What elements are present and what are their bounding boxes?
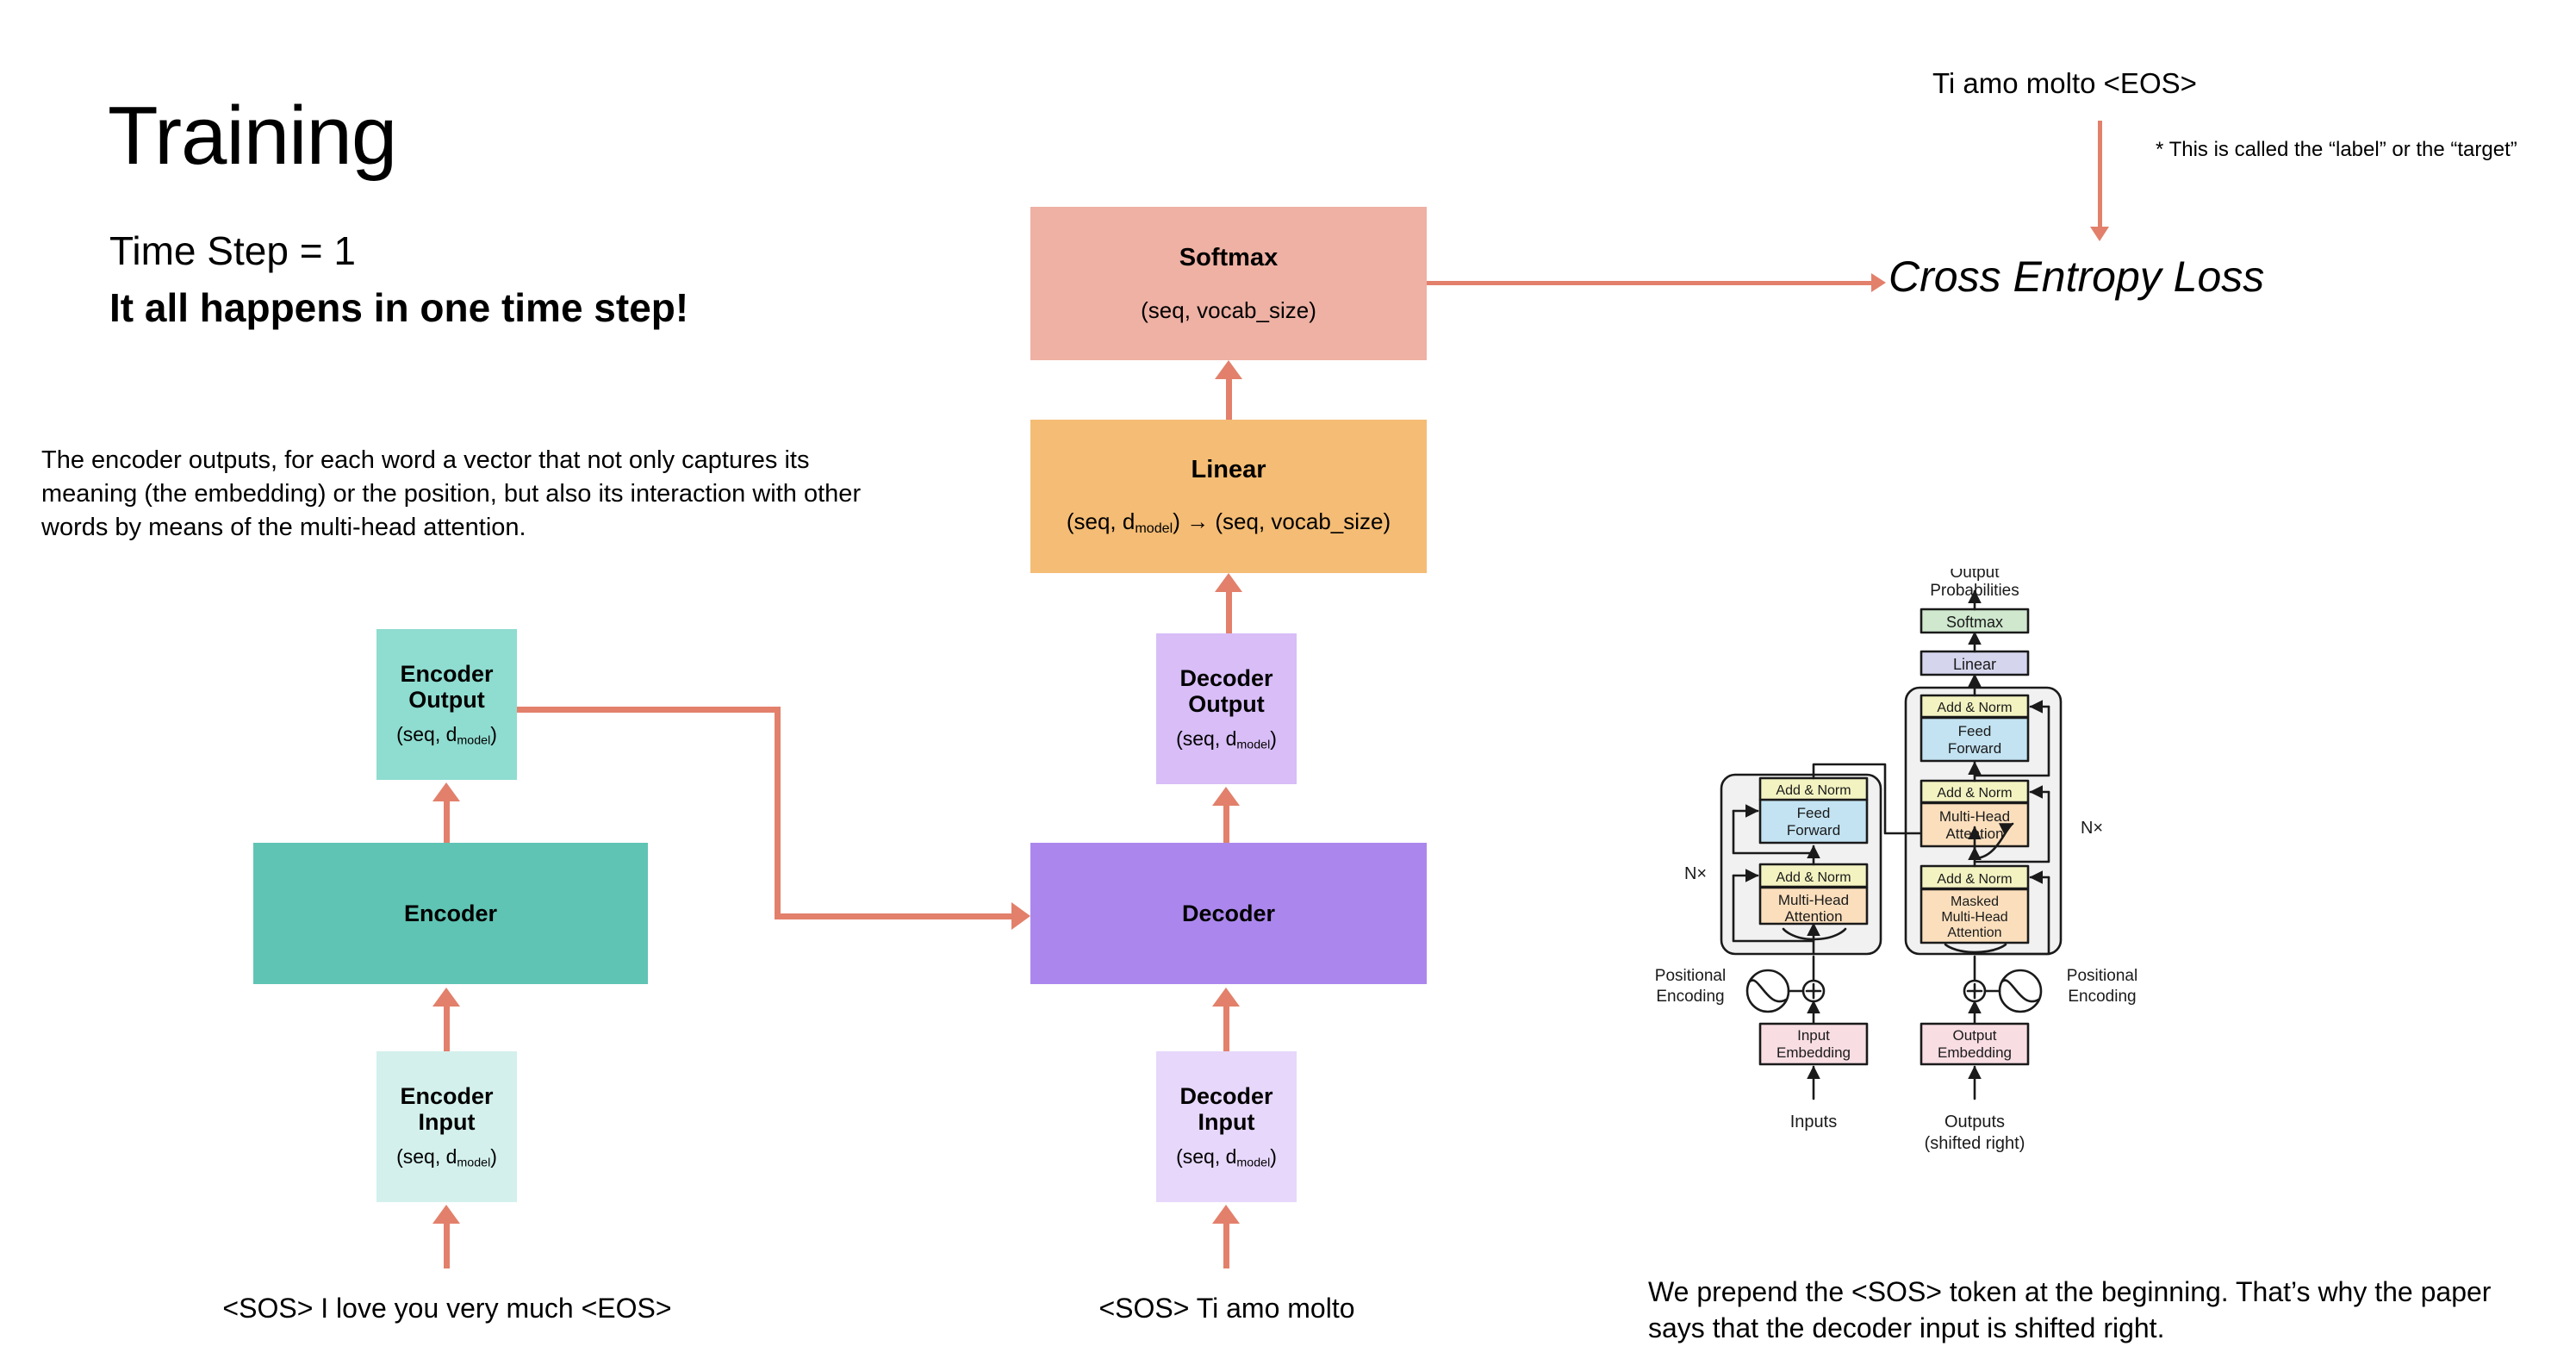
encoder-output-dim-end: ) bbox=[490, 723, 497, 745]
linear-dim-a-end: ) bbox=[1173, 508, 1180, 534]
decoder-output-dim: (seq, d bbox=[1176, 727, 1236, 750]
decoder-input-label-line1: Decoder bbox=[1179, 1083, 1272, 1109]
arrow-decoder-input-to-decoder-line bbox=[1223, 1007, 1229, 1051]
encoder-output-label-line1: Encoder bbox=[400, 661, 493, 687]
linear-dim-a: (seq, d bbox=[1067, 508, 1136, 534]
decoder-input-dim-sub: model bbox=[1236, 1156, 1270, 1169]
softmax-label: Softmax bbox=[1179, 244, 1278, 271]
encoder-output-dim: (seq, d bbox=[396, 723, 457, 745]
arrow-decoder-sentence-to-input-head bbox=[1212, 1205, 1240, 1224]
tf-inputs-label: Inputs bbox=[1790, 1113, 1837, 1131]
arrow-decoder-input-to-decoder-head bbox=[1212, 988, 1240, 1007]
encoder-output-label-line2: Output bbox=[408, 687, 484, 713]
encoder-input-label-line2: Input bbox=[419, 1109, 476, 1135]
encoder-input-dim-sub: model bbox=[457, 1156, 490, 1169]
encoder-label: Encoder bbox=[404, 901, 497, 926]
arrow-encoder-sentence-to-input-line bbox=[444, 1224, 450, 1268]
arrow-decoder-to-decoder-output-line bbox=[1223, 806, 1229, 843]
transformer-architecture-figure: Output Probabilities Softmax Linear Add … bbox=[1637, 569, 2171, 1250]
emphasis-label: It all happens in one time step! bbox=[109, 288, 688, 327]
tf-dec-add-norm-3: Add & Norm bbox=[1937, 701, 2012, 715]
encoder-input-dim-end: ) bbox=[490, 1145, 497, 1168]
arrow-encoder-sentence-to-input-head bbox=[432, 1205, 460, 1224]
decoder-sentence-caption: <SOS> Ti amo molto bbox=[1098, 1293, 1354, 1324]
tf-nx-encoder: N× bbox=[1684, 864, 1707, 883]
encoder-sentence-caption: <SOS> I love you very much <EOS> bbox=[222, 1293, 671, 1324]
connector-encoder-to-decoder-bottom bbox=[775, 913, 1011, 919]
tf-dec-multihead-line2: Attention bbox=[1945, 826, 2003, 842]
decoder-input-dim: (seq, d bbox=[1176, 1145, 1236, 1168]
tf-dec-multihead-line1: Multi-Head bbox=[1939, 808, 2010, 825]
arrow-label-to-loss-head bbox=[2090, 227, 2109, 241]
tf-positional-encoding-left-line2: Encoding bbox=[1656, 988, 1724, 1006]
arrow-encoder-input-to-encoder-line bbox=[444, 1007, 450, 1051]
encoder-note-text: The encoder outputs, for each word a vec… bbox=[41, 444, 912, 545]
tf-dec-masked-line1: Masked bbox=[1951, 894, 1999, 909]
cross-entropy-loss-label: Cross Entropy Loss bbox=[1888, 252, 2264, 302]
encoder-output-dim-sub: model bbox=[457, 733, 490, 747]
tf-dec-feed-forward-line1: Feed bbox=[1958, 723, 1992, 739]
decoder-output-dim-end: ) bbox=[1270, 727, 1277, 750]
tf-enc-multihead-line1: Multi-Head bbox=[1778, 892, 1849, 908]
decoder-input-box: Decoder Input (seq, dmodel) bbox=[1156, 1051, 1297, 1202]
decoder-output-label-line1: Decoder bbox=[1179, 665, 1272, 691]
tf-dec-add-norm-2: Add & Norm bbox=[1937, 786, 2012, 801]
decoder-input-dim-end: ) bbox=[1270, 1145, 1277, 1168]
arrow-label-to-loss-line bbox=[2098, 121, 2102, 227]
decoder-box: Decoder bbox=[1030, 843, 1427, 984]
connector-encoder-to-decoder-top bbox=[517, 707, 781, 713]
encoder-input-box: Encoder Input (seq, dmodel) bbox=[376, 1051, 517, 1202]
target-label-text: Ti amo molto <EOS> bbox=[1932, 67, 2197, 100]
arrow-linear-to-softmax-line bbox=[1226, 379, 1232, 420]
tf-output-embedding-line2: Embedding bbox=[1938, 1044, 2012, 1061]
decoder-input-label-line2: Input bbox=[1198, 1109, 1255, 1135]
tf-dec-add-norm-1: Add & Norm bbox=[1937, 872, 2012, 887]
tf-outputs-line2: (shifted right) bbox=[1925, 1134, 2025, 1153]
linear-box: Linear (seq, dmodel) → (seq, vocab_size) bbox=[1030, 420, 1427, 573]
page-title: Training bbox=[108, 95, 396, 178]
linear-dim-a-sub: model bbox=[1135, 520, 1173, 536]
arrow-decoder-output-to-linear-head bbox=[1215, 573, 1242, 592]
softmax-dim: (seq, vocab_size) bbox=[1141, 298, 1316, 323]
arrow-decoder-output-to-linear-line bbox=[1226, 592, 1232, 633]
arrow-linear-to-softmax-head bbox=[1215, 360, 1242, 379]
tf-enc-feed-forward-line2: Forward bbox=[1787, 822, 1840, 838]
time-step-label: Time Step = 1 bbox=[109, 231, 356, 271]
arrow-encoder-to-encoder-output-line bbox=[444, 801, 450, 843]
arrow-decoder-to-decoder-output-head bbox=[1212, 787, 1240, 806]
target-footnote-text: * This is called the “label” or the “tar… bbox=[2156, 138, 2517, 162]
tf-output-embedding-line1: Output bbox=[1952, 1027, 1996, 1044]
arrow-decoder-sentence-to-input-line bbox=[1223, 1224, 1229, 1268]
tf-outputs-line1: Outputs bbox=[1944, 1113, 2005, 1131]
tf-input-embedding-line2: Embedding bbox=[1776, 1044, 1851, 1061]
tf-enc-add-norm-2: Add & Norm bbox=[1776, 783, 1851, 798]
connector-encoder-to-decoder-vert bbox=[775, 707, 781, 919]
linear-label: Linear bbox=[1191, 456, 1266, 483]
tf-output-probabilities-line1: Output bbox=[1950, 569, 2000, 582]
tf-nx-decoder: N× bbox=[2081, 819, 2103, 838]
decoder-output-box: Decoder Output (seq, dmodel) bbox=[1156, 633, 1297, 784]
arrow-softmax-to-loss-line bbox=[1427, 281, 1871, 285]
sos-note-text: We prepend the <SOS> token at the beginn… bbox=[1648, 1274, 2518, 1346]
tf-positional-encoding-right-line2: Encoding bbox=[2068, 988, 2136, 1006]
arrow-encoder-input-to-encoder-head bbox=[432, 988, 460, 1007]
softmax-box: Softmax (seq, vocab_size) bbox=[1030, 207, 1427, 360]
decoder-output-dim-sub: model bbox=[1236, 738, 1270, 751]
tf-dec-feed-forward-line2: Forward bbox=[1948, 740, 2001, 757]
encoder-input-label-line1: Encoder bbox=[400, 1083, 493, 1109]
tf-dec-masked-line3: Attention bbox=[1947, 926, 2001, 940]
encoder-box: Encoder bbox=[253, 843, 648, 984]
arrow-encoder-to-encoder-output-head bbox=[432, 782, 460, 801]
decoder-label: Decoder bbox=[1182, 901, 1275, 926]
tf-output-probabilities-line2: Probabilities bbox=[1930, 582, 2019, 600]
linear-dim-b: (seq, vocab_size) bbox=[1215, 508, 1391, 534]
tf-enc-multihead-line2: Attention bbox=[1784, 908, 1842, 925]
tf-enc-feed-forward-line1: Feed bbox=[1797, 805, 1831, 821]
tf-dec-masked-line2: Multi-Head bbox=[1941, 910, 2007, 925]
arrow-softmax-to-loss-head bbox=[1871, 273, 1886, 292]
connector-encoder-to-decoder-head bbox=[1011, 902, 1030, 930]
tf-positional-encoding-right-line1: Positional bbox=[2067, 967, 2137, 985]
tf-positional-encoding-left-line1: Positional bbox=[1655, 967, 1726, 985]
tf-enc-add-norm-1: Add & Norm bbox=[1776, 870, 1851, 885]
encoder-output-box: Encoder Output (seq, dmodel) bbox=[376, 629, 517, 780]
tf-softmax-label: Softmax bbox=[1946, 614, 2003, 631]
linear-dim-arrow: → bbox=[1186, 508, 1209, 534]
decoder-output-label-line2: Output bbox=[1188, 691, 1264, 717]
encoder-input-dim: (seq, d bbox=[396, 1145, 457, 1168]
tf-linear-label: Linear bbox=[1953, 656, 1996, 673]
tf-input-embedding-line1: Input bbox=[1797, 1027, 1830, 1044]
